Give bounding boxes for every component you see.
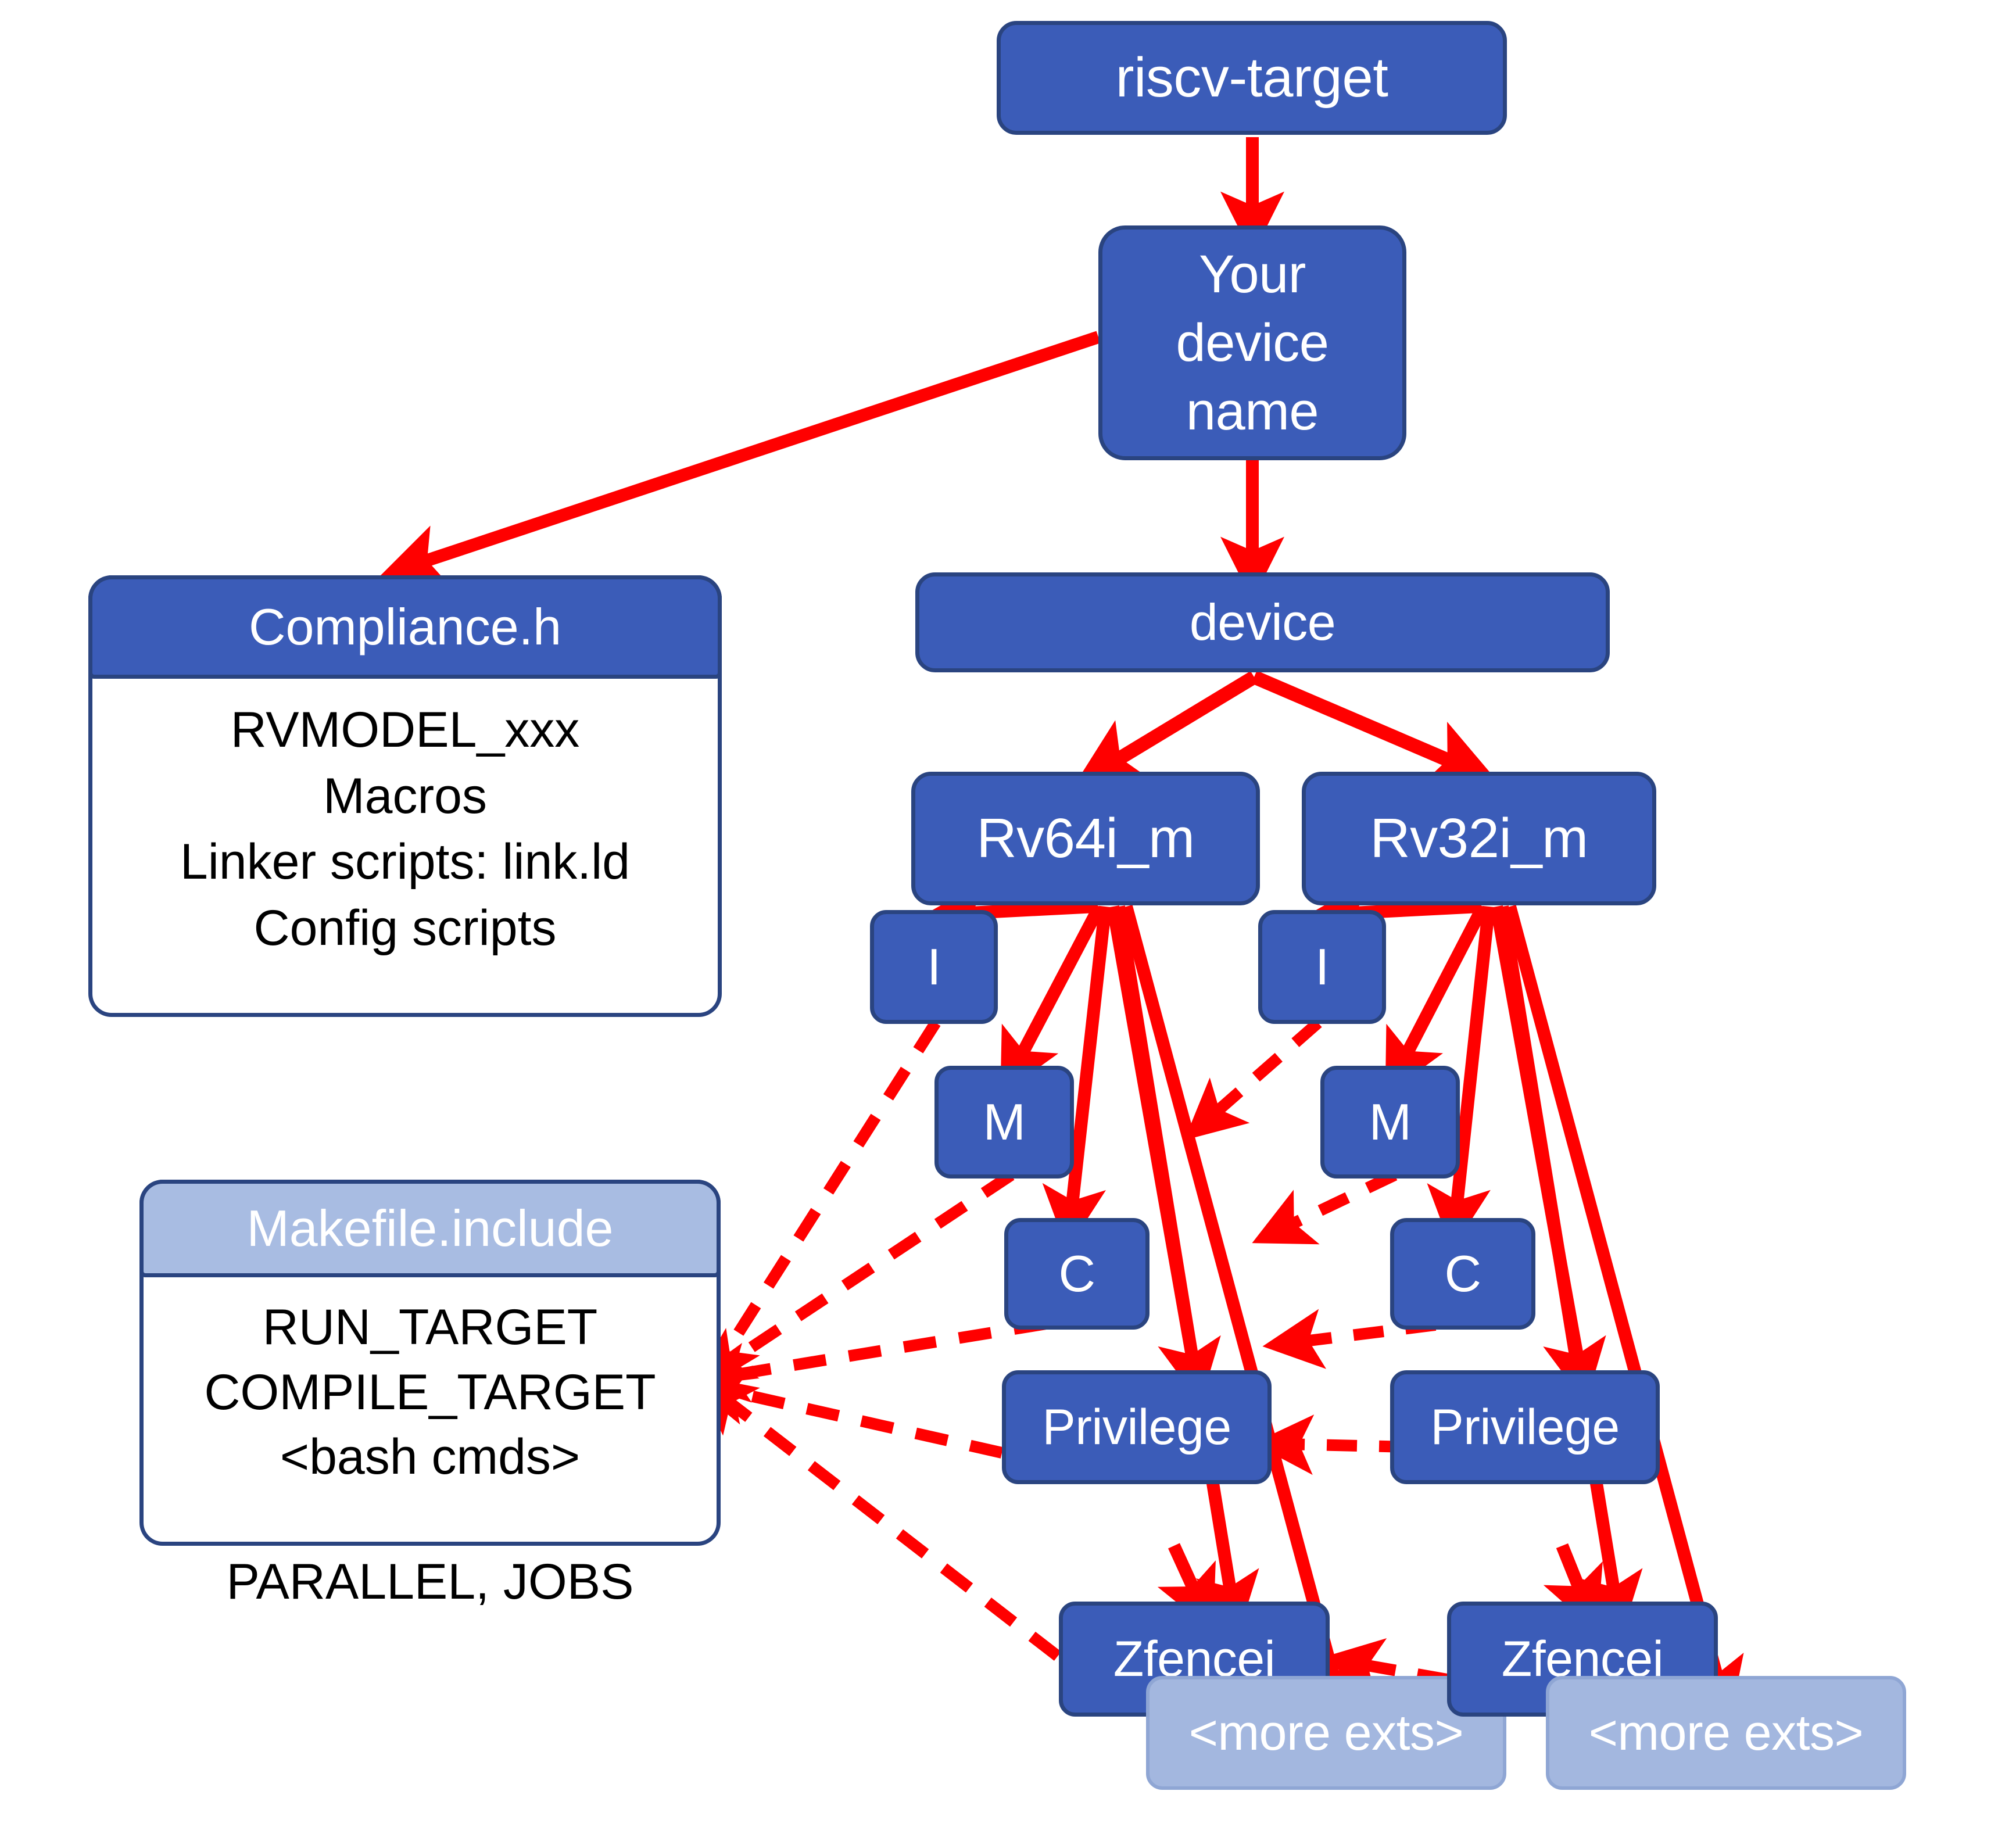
node-ext-privilege-right-label: Privilege [1430, 1401, 1619, 1453]
node-ext-privilege-left[interactable]: Privilege [1002, 1370, 1272, 1484]
node-ext-i-right-label: I [1315, 940, 1329, 994]
node-rv32i-m-label: Rv32i_m [1370, 809, 1588, 868]
node-ext-more-exts-right[interactable]: <more exts> [1546, 1676, 1906, 1790]
node-ext-i-left-label: I [927, 940, 941, 994]
node-device[interactable]: device [915, 572, 1610, 672]
node-device-label: device [1190, 596, 1335, 649]
node-ext-c-left-label: C [1058, 1247, 1095, 1301]
card-makefile-include-overflow-label: PARALLEL, JOBS [226, 1554, 633, 1610]
dashed-arrow-i-right-to-left [1209, 1023, 1318, 1119]
node-ext-i-right[interactable]: I [1258, 910, 1386, 1024]
arrow-privilege-right-to-zfencei-right [1562, 1546, 1584, 1599]
card-compliance-h-line-1: RVMODEL_xxx [231, 705, 580, 756]
node-riscv-target[interactable]: riscv-target [997, 21, 1507, 135]
card-makefile-include-header: Makefile.include [139, 1180, 721, 1277]
node-ext-privilege-left-label: Privilege [1042, 1401, 1231, 1453]
card-compliance-h-header: Compliance.h [88, 575, 722, 679]
dashed-arrow-m-right-to-left [1281, 1175, 1395, 1229]
node-ext-c-right-label: C [1444, 1247, 1481, 1301]
node-your-device-name-line-3: name [1186, 384, 1319, 440]
card-compliance-h-body: RVMODEL_xxx Macros Linker scripts: link.… [92, 690, 718, 954]
arrow-device-to-rv32 [1254, 677, 1462, 766]
node-ext-m-left-label: M [983, 1095, 1026, 1149]
dashed-arrow-i-left-to-makefile [719, 1023, 936, 1363]
node-rv64i-m-label: Rv64i_m [976, 809, 1194, 868]
node-ext-m-right[interactable]: M [1320, 1066, 1460, 1179]
diagram-canvas: riscv-target Your device name device Rv6… [0, 0, 2016, 1834]
node-riscv-target-label: riscv-target [1116, 49, 1388, 108]
card-makefile-include-header-label: Makefile.include [247, 1199, 614, 1258]
card-makefile-include-line-2: COMPILE_TARGET [204, 1367, 656, 1419]
node-ext-m-left[interactable]: M [934, 1066, 1074, 1179]
arrow-device-to-rv64 [1107, 677, 1254, 766]
card-compliance-h-header-label: Compliance.h [249, 597, 561, 657]
node-rv32i-m[interactable]: Rv32i_m [1302, 772, 1656, 905]
card-makefile-include[interactable]: Makefile.include RUN_TARGET COMPILE_TARG… [139, 1180, 721, 1546]
node-ext-more-exts-left-label: <more exts> [1189, 1707, 1464, 1759]
card-compliance-h[interactable]: Compliance.h RVMODEL_xxx Macros Linker s… [88, 575, 722, 1017]
node-ext-privilege-right[interactable]: Privilege [1390, 1370, 1660, 1484]
card-compliance-h-line-3: Linker scripts: link.ld [180, 837, 630, 888]
node-your-device-name[interactable]: Your device name [1098, 225, 1406, 460]
dashed-arrow-privilege-left-to-makefile [719, 1389, 1002, 1453]
card-compliance-h-line-2: Macros [323, 771, 487, 822]
card-makefile-include-line-3: <bash cmds> [280, 1432, 580, 1483]
card-makefile-include-body: RUN_TARGET COMPILE_TARGET <bash cmds> [144, 1288, 717, 1483]
card-makefile-include-overflow-line: PARALLEL, JOBS [144, 1553, 717, 1611]
card-compliance-h-line-4: Config scripts [254, 903, 557, 954]
node-ext-m-right-label: M [1369, 1095, 1412, 1149]
node-your-device-name-line-2: device [1176, 315, 1329, 371]
arrow-privilege-left-to-zfencei-left [1174, 1546, 1198, 1599]
node-ext-c-right[interactable]: C [1390, 1218, 1535, 1330]
node-rv64i-m[interactable]: Rv64i_m [911, 772, 1260, 905]
node-ext-c-left[interactable]: C [1004, 1218, 1150, 1330]
card-makefile-include-line-1: RUN_TARGET [263, 1302, 598, 1353]
node-your-device-name-line-1: Your [1199, 246, 1306, 303]
node-ext-more-exts-right-label: <more exts> [1589, 1707, 1864, 1759]
arrow-device-name-to-compliance [414, 337, 1098, 565]
node-ext-i-left[interactable]: I [870, 910, 998, 1024]
